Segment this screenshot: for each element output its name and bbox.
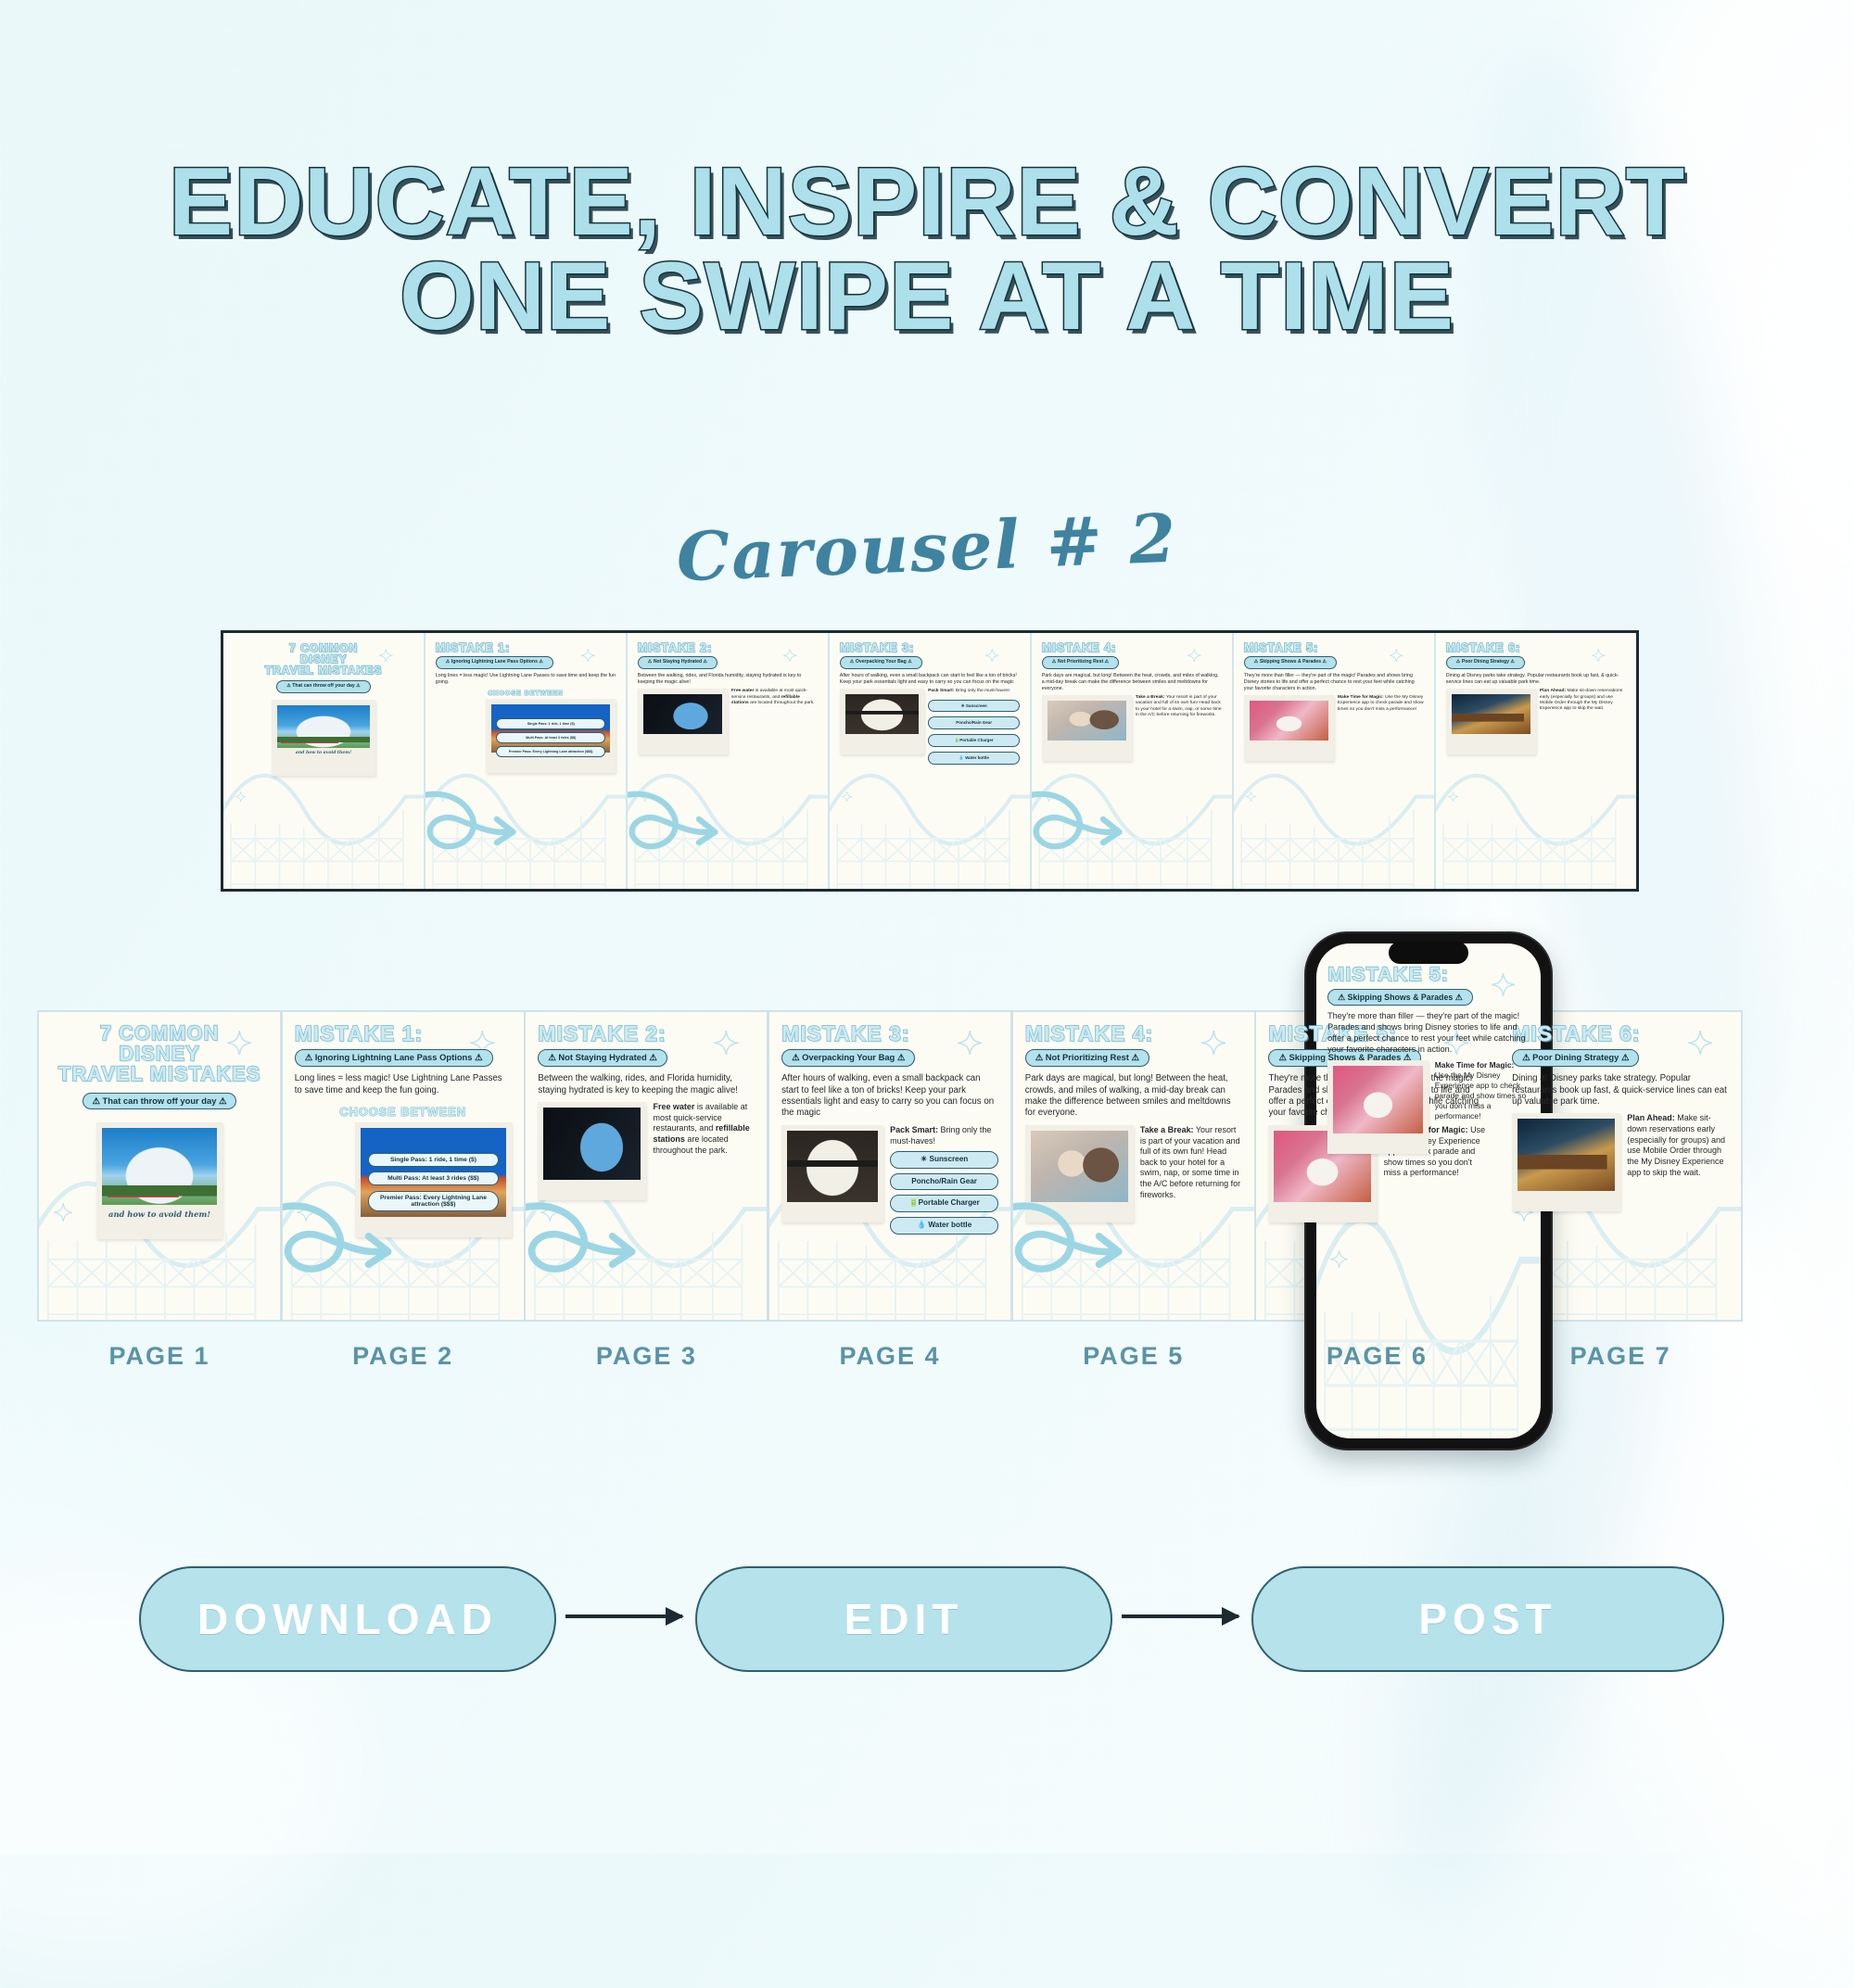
side-note-lead: Make Time for Magic:: [1338, 695, 1384, 700]
polaroid-frame: [781, 1125, 883, 1223]
filmstrip-slide-3[interactable]: MISTAKE 2:⚠ Not Staying Hydrated ⚠Betwee…: [628, 633, 830, 889]
slide-pill-badge[interactable]: ⚠ Not Prioritizing Rest ⚠: [1025, 1049, 1149, 1067]
side-note-text: Use the My Disney Experience app to chec…: [1435, 1070, 1527, 1121]
mickey-backpack-photo: [787, 1131, 878, 1203]
pass-option-3[interactable]: Premier Pass: Every Lightning Lane attra…: [368, 1191, 500, 1211]
polaroid-frame: [1327, 1060, 1429, 1154]
arrow-edit-to-post-icon: [1122, 1614, 1238, 1618]
filmstrip-slide-4[interactable]: MISTAKE 3:⚠ Overpacking Your Bag ⚠After …: [830, 633, 1032, 889]
slide-title: MISTAKE 3:: [840, 642, 1020, 654]
essential-chip-4[interactable]: 💧 Water bottle: [890, 1217, 998, 1235]
family-resting-photo: [1031, 1131, 1128, 1203]
slide-title-line-1: 7 COMMON: [51, 1023, 268, 1044]
pass-option-2[interactable]: Multi Pass: At least 3 rides ($$): [368, 1171, 500, 1185]
carousel-slide-4: MISTAKE 3:⚠ Overpacking Your Bag ⚠After …: [830, 633, 1030, 889]
side-note-lead: Take a Break:: [1140, 1125, 1194, 1134]
carousel-slide-6: MISTAKE 5:⚠ Skipping Shows & Parades ⚠Th…: [1234, 633, 1434, 889]
filmstrip-slide-5[interactable]: MISTAKE 4:⚠ Not Prioritizing Rest ⚠Park …: [1032, 633, 1234, 889]
cinderella-castle-photo: [102, 1128, 217, 1206]
slide-side-note: Free water is available at most quick-se…: [731, 689, 818, 706]
slide-title-line-1: 7 COMMON: [234, 642, 413, 653]
slide-pill-badge[interactable]: ⚠ Not Staying Hydrated ⚠: [538, 1049, 667, 1067]
side-note-lead: Plan Ahead:: [1540, 689, 1566, 693]
slide-title: MISTAKE 2:: [538, 1023, 755, 1045]
page-label-2: PAGE 2: [281, 1342, 526, 1371]
polaroid-frame: [1042, 695, 1132, 761]
polaroid-frame: [1025, 1125, 1134, 1223]
slide-pill-badge[interactable]: ⚠ That can throw off your day ⚠: [83, 1093, 237, 1110]
mickey-tumbler-photo: [643, 694, 722, 734]
polaroid-frame: Single Pass: 1 ride, 1 time ($)Multi Pas…: [486, 699, 616, 774]
slide-body-text: Park days are magical, but long! Between…: [1042, 673, 1222, 691]
slide-caption: and how to avoid them!: [102, 1209, 217, 1219]
slide-pill-badge[interactable]: ⚠ Overpacking Your Bag ⚠: [840, 656, 922, 669]
download-button[interactable]: DOWNLOAD: [139, 1566, 556, 1672]
mickey-tumbler-photo: [543, 1108, 641, 1180]
page-label-7: PAGE 7: [1498, 1342, 1743, 1371]
disney-parade-photo: [1250, 701, 1328, 741]
slide-body-text: Dining at Disney parks take strategy. Po…: [1512, 1073, 1729, 1108]
side-note-lead: Pack Smart:: [890, 1125, 938, 1134]
carousel-slide-1: 7 COMMONDISNEYTRAVEL MISTAKES⚠ That can …: [39, 1012, 280, 1320]
slide-side-note: Take a Break: Your resort is part of you…: [1140, 1125, 1242, 1201]
slide-pill-badge[interactable]: ⚠ Ignoring Lightning Lane Pass Options ⚠: [295, 1049, 493, 1067]
slide-caption: and how to avoid them!: [277, 751, 371, 755]
carousel-script-label: Carousel # 2: [0, 473, 1854, 623]
pass-option-1[interactable]: Single Pass: 1 ride, 1 time ($): [368, 1153, 500, 1167]
carousel-slide-4: MISTAKE 3:⚠ Overpacking Your Bag ⚠After …: [769, 1012, 1010, 1320]
side-note-text: Your resort is part of your vacation and…: [1140, 1125, 1240, 1199]
polaroid-frame: [840, 689, 924, 754]
headline-line-1: EDUCATE, INSPIRE & CONVERT: [169, 148, 1685, 256]
pass-option-2[interactable]: Multi Pass: At least 3 rides ($$): [496, 732, 605, 743]
side-note-lead: Make Time for Magic:: [1435, 1060, 1515, 1070]
choose-between-heading: CHOOSE BETWEEN: [436, 690, 616, 697]
filmstrip-slide-7[interactable]: MISTAKE 6:⚠ Poor Dining Strategy ⚠Dining…: [1436, 633, 1636, 889]
workflow-cta-row: DOWNLOAD EDIT POST: [139, 1566, 1724, 1678]
carousel-slide-7: MISTAKE 6:⚠ Poor Dining Strategy ⚠Dining…: [1436, 633, 1636, 889]
slide-title: MISTAKE 5:: [1244, 642, 1424, 654]
side-note-lead: Plan Ahead:: [1627, 1113, 1675, 1122]
slide-title: MISTAKE 6:: [1446, 642, 1626, 654]
phone-notch: [1389, 942, 1468, 964]
polaroid-frame: [638, 689, 728, 754]
slide-pill-badge[interactable]: ⚠ That can throw off your day ⚠: [276, 680, 370, 693]
essential-chip-1[interactable]: ☀ Sunscreen: [890, 1151, 998, 1169]
slide-body-text: Park days are magical, but long! Between…: [1025, 1073, 1242, 1120]
slide-pill-badge[interactable]: ⚠ Skipping Shows & Parades ⚠: [1244, 656, 1337, 669]
slide-side-note: Pack Smart: Bring only the must-haves!☀ …: [928, 689, 1020, 765]
cinderella-castle-photo: [277, 705, 371, 748]
slide-title-line-2: DISNEY: [51, 1044, 268, 1064]
side-note-text: Bring only the must-haves!: [954, 689, 1009, 693]
carousel-slide-7: MISTAKE 6:⚠ Poor Dining Strategy ⚠Dining…: [1500, 1012, 1741, 1320]
pass-option-3[interactable]: Premier Pass: Every Lightning Lane attra…: [496, 746, 605, 757]
carousel-slide-5: MISTAKE 4:⚠ Not Prioritizing Rest ⚠Park …: [1032, 633, 1232, 889]
phone-mockup: MISTAKE 5:⚠ Skipping Shows & Parades ⚠Th…: [1304, 931, 1553, 1450]
slide-title: 7 COMMONDISNEYTRAVEL MISTAKES: [51, 1023, 268, 1084]
choose-between-heading: CHOOSE BETWEEN: [295, 1105, 512, 1119]
slide-title: MISTAKE 3:: [781, 1023, 998, 1045]
carousel-slide-2: MISTAKE 1:⚠ Ignoring Lightning Lane Pass…: [283, 1012, 524, 1320]
slide-title: MISTAKE 4:: [1042, 642, 1222, 654]
carousel-slide-2: MISTAKE 1:⚠ Ignoring Lightning Lane Pass…: [425, 633, 626, 889]
filmstrip-slide-1[interactable]: 7 COMMONDISNEYTRAVEL MISTAKES⚠ That can …: [223, 633, 425, 889]
page-label-5: PAGE 5: [1011, 1342, 1256, 1371]
pass-option-1[interactable]: Single Pass: 1 ride, 1 time ($): [496, 718, 605, 729]
page-card-7[interactable]: MISTAKE 6:⚠ Poor Dining Strategy ⚠Dining…: [1498, 1010, 1743, 1322]
slide-title-line-2: DISNEY: [234, 653, 413, 665]
slide-side-note: Free water is available at most quick-se…: [654, 1102, 756, 1156]
essential-chip-4[interactable]: 💧 Water bottle: [928, 752, 1020, 765]
slide-pill-badge[interactable]: ⚠ Not Staying Hydrated ⚠: [638, 656, 717, 669]
post-button[interactable]: POST: [1251, 1566, 1724, 1672]
slide-body-text: Between the walking, rides, and Florida …: [638, 673, 818, 686]
slide-pill-badge[interactable]: ⚠ Overpacking Your Bag ⚠: [781, 1049, 915, 1067]
restaurant-sign-photo: [1517, 1119, 1615, 1191]
filmstrip-slide-6[interactable]: MISTAKE 5:⚠ Skipping Shows & Parades ⚠Th…: [1234, 633, 1436, 889]
disney-parade-photo: [1333, 1066, 1423, 1133]
slide-pill-badge[interactable]: ⚠ Ignoring Lightning Lane Pass Options ⚠: [436, 656, 553, 669]
carousel-slide-3: MISTAKE 2:⚠ Not Staying Hydrated ⚠Betwee…: [628, 633, 828, 889]
slide-body-text: They're more than filler — they're part …: [1244, 673, 1424, 691]
side-note-lead: Take a Break:: [1136, 695, 1165, 700]
page-card-row: 7 COMMONDISNEYTRAVEL MISTAKES⚠ That can …: [37, 1010, 1817, 1325]
page-label-4: PAGE 4: [768, 1342, 1012, 1371]
slide-title: MISTAKE 6:: [1512, 1023, 1729, 1045]
slide-title: MISTAKE 1:: [436, 642, 616, 654]
slide-pill-badge[interactable]: ⚠ Not Prioritizing Rest ⚠: [1042, 656, 1119, 669]
page-card-2[interactable]: MISTAKE 1:⚠ Ignoring Lightning Lane Pass…: [281, 1010, 526, 1322]
slide-body-text: After hours of walking, even a small bac…: [840, 673, 1020, 686]
restaurant-sign-photo: [1452, 694, 1530, 734]
slide-pill-badge[interactable]: ⚠ Poor Dining Strategy ⚠: [1512, 1049, 1639, 1067]
essential-chip-2[interactable]: Poncho/Rain Gear: [890, 1173, 998, 1191]
mickey-backpack-photo: [845, 694, 919, 734]
slide-side-note: Make Time for Magic: Use the My Disney E…: [1338, 695, 1424, 713]
edit-button[interactable]: EDIT: [695, 1566, 1112, 1672]
slide-pill-badge[interactable]: ⚠ Skipping Shows & Parades ⚠: [1327, 989, 1473, 1006]
polaroid-frame: and how to avoid them!: [96, 1122, 222, 1239]
slide-body-text: Long lines = less magic! Use Lightning L…: [436, 673, 616, 686]
slide-body-text: Long lines = less magic! Use Lightning L…: [295, 1073, 512, 1096]
page-label-1: PAGE 1: [37, 1342, 282, 1371]
page-card-4[interactable]: MISTAKE 3:⚠ Overpacking Your Bag ⚠After …: [768, 1010, 1012, 1322]
polaroid-frame: and how to avoid them!: [272, 700, 376, 775]
slide-title: MISTAKE 4:: [1025, 1023, 1242, 1045]
slide-title-line-3: TRAVEL MISTAKES: [51, 1064, 268, 1084]
page-label-3: PAGE 3: [524, 1342, 768, 1371]
slide-title: MISTAKE 1:: [295, 1023, 512, 1045]
side-note-text: Make sit-down reservations early (especi…: [1627, 1113, 1725, 1176]
slide-side-note: Pack Smart: Bring only the must-haves!☀ …: [890, 1125, 998, 1235]
page-card-5[interactable]: MISTAKE 4:⚠ Not Prioritizing Rest ⚠Park …: [1011, 1010, 1256, 1322]
polaroid-frame: [1244, 695, 1334, 761]
headline-line-2: ONE SWIPE AT A TIME: [0, 250, 1854, 345]
carousel-slide-1: 7 COMMONDISNEYTRAVEL MISTAKES⚠ That can …: [223, 633, 424, 889]
essential-chip-3[interactable]: 🔋Portable Charger: [890, 1195, 998, 1212]
slide-title: 7 COMMONDISNEYTRAVEL MISTAKES: [234, 642, 413, 676]
side-note-lead: Free water: [654, 1102, 695, 1111]
slide-side-note: Plan Ahead: Make sit-down reservations e…: [1540, 689, 1626, 713]
essential-chip-3[interactable]: 🔋Portable Charger: [928, 734, 1020, 747]
page-card-3[interactable]: MISTAKE 2:⚠ Not Staying Hydrated ⚠Betwee…: [524, 1010, 768, 1322]
side-note-lead: Free water: [731, 689, 755, 693]
polaroid-frame: [1446, 689, 1536, 754]
slide-side-note: Plan Ahead: Make sit-down reservations e…: [1627, 1113, 1729, 1178]
slide-body-text: Dining at Disney parks take strategy. Po…: [1446, 673, 1626, 686]
carousel-slide-6: MISTAKE 5:⚠ Skipping Shows & Parades ⚠Th…: [1316, 943, 1541, 1438]
slide-title-line-3: TRAVEL MISTAKES: [234, 665, 413, 676]
filmstrip-slide-2[interactable]: MISTAKE 1:⚠ Ignoring Lightning Lane Pass…: [425, 633, 628, 889]
carousel-slide-5: MISTAKE 4:⚠ Not Prioritizing Rest ⚠Park …: [1013, 1012, 1254, 1320]
carousel-slide-3: MISTAKE 2:⚠ Not Staying Hydrated ⚠Betwee…: [526, 1012, 767, 1320]
page-card-1[interactable]: 7 COMMONDISNEYTRAVEL MISTAKES⚠ That can …: [37, 1010, 282, 1322]
polaroid-frame: [538, 1102, 646, 1200]
essential-chip-2[interactable]: Poncho/Rain Gear: [928, 716, 1020, 729]
slide-title: MISTAKE 5:: [1327, 964, 1530, 984]
page-title: EDUCATE, INSPIRE & CONVERT ONE SWIPE AT …: [0, 156, 1854, 345]
phone-screen: MISTAKE 5:⚠ Skipping Shows & Parades ⚠Th…: [1316, 943, 1541, 1438]
side-note-lead: Pack Smart:: [928, 689, 954, 693]
arrow-download-to-edit-icon: [565, 1614, 682, 1618]
carousel-filmstrip: 7 COMMONDISNEYTRAVEL MISTAKES⚠ That can …: [221, 630, 1639, 892]
polaroid-frame: Single Pass: 1 ride, 1 time ($)Multi Pas…: [355, 1122, 511, 1237]
slide-side-note: Take a Break: Your resort is part of you…: [1136, 695, 1222, 719]
slide-body-text: They're more than filler — they're part …: [1327, 1011, 1530, 1055]
side-note-tail: are located throughout the park.: [749, 701, 815, 705]
slide-title: MISTAKE 2:: [638, 642, 818, 654]
essential-chip-1[interactable]: ☀ Sunscreen: [928, 700, 1020, 713]
slide-pill-badge[interactable]: ⚠ Poor Dining Strategy ⚠: [1446, 656, 1525, 669]
slide-body-text: After hours of walking, even a small bac…: [781, 1073, 998, 1120]
slide-side-note: Make Time for Magic: Use the My Disney E…: [1435, 1060, 1530, 1121]
slide-body-text: Between the walking, rides, and Florida …: [538, 1073, 755, 1096]
family-resting-photo: [1048, 701, 1126, 741]
